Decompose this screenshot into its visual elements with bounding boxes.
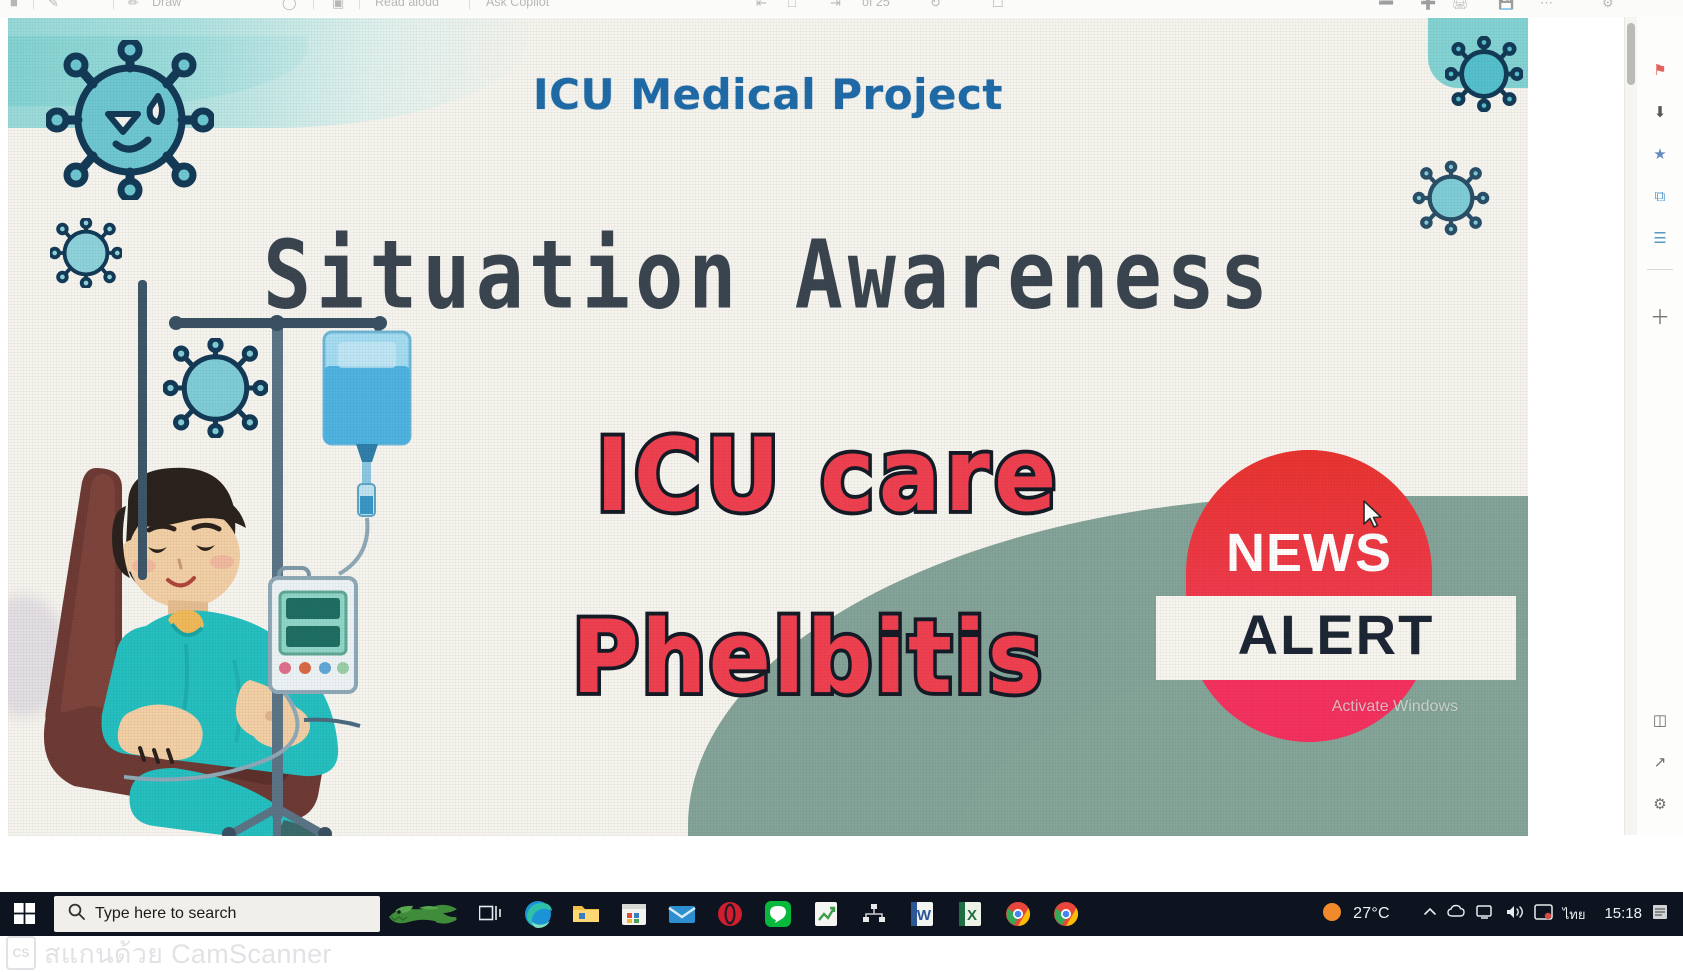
- next-page-icon[interactable]: ⇥: [830, 0, 841, 11]
- right-tool-rail: ⚑ ⬇ ★ ⧉ ☰ ＋ ◫ ↗ ⚙: [1636, 17, 1683, 835]
- line-icon[interactable]: [754, 892, 802, 936]
- app-toolbar: ■ | ✎ | ✏ Draw ◯ | ▣ | Read aloud | Ask …: [0, 0, 1683, 17]
- favorites-icon[interactable]: ★: [1645, 141, 1675, 167]
- split-screen-icon[interactable]: ◫: [1645, 707, 1675, 733]
- download-icon[interactable]: ⬇: [1645, 99, 1675, 125]
- rotate-icon[interactable]: ↻: [930, 0, 941, 11]
- text-icon[interactable]: ▣: [332, 0, 344, 11]
- task-view-button[interactable]: [466, 892, 514, 936]
- pen-icon[interactable]: ✎: [48, 0, 59, 11]
- svg-text:W: W: [917, 907, 932, 924]
- taskbar-search-box[interactable]: Type here to search: [54, 896, 380, 932]
- search-icon: [68, 903, 85, 925]
- fit-page-icon[interactable]: ☐: [992, 0, 1004, 11]
- file-explorer-icon[interactable]: [562, 892, 610, 936]
- slide-header-title: ICU Medical Project: [8, 70, 1528, 119]
- share-icon[interactable]: ↗: [1645, 749, 1675, 775]
- taskbar-clock[interactable]: 15:18: [1604, 906, 1642, 922]
- scrollbar-thumb[interactable]: [1627, 23, 1635, 85]
- chrome-icon-2[interactable]: [1042, 892, 1090, 936]
- network-icon[interactable]: [1476, 904, 1496, 924]
- mouse-cursor: [1362, 500, 1384, 535]
- vertical-scrollbar[interactable]: [1624, 17, 1637, 835]
- network-app-icon[interactable]: [850, 892, 898, 936]
- erase-icon[interactable]: ◯: [282, 0, 297, 11]
- edge-icon[interactable]: [514, 892, 562, 936]
- onedrive-icon[interactable]: [1447, 904, 1467, 924]
- read-aloud-label[interactable]: Read aloud: [375, 0, 439, 9]
- draw-tool-label[interactable]: Draw: [152, 0, 181, 9]
- bookmark-icon[interactable]: ⚑: [1645, 57, 1675, 83]
- weather-temperature[interactable]: 27°C: [1353, 905, 1390, 923]
- windows-activate-watermark: Activate Windows: [1332, 698, 1458, 716]
- volume-icon[interactable]: [1505, 904, 1525, 924]
- topic-line-2: Phelbitis: [498, 599, 1118, 717]
- show-desktop-icon[interactable]: [1651, 903, 1669, 925]
- windows-taskbar: Type here to search: [0, 892, 1683, 936]
- slide-heading: Situation Awareness: [8, 220, 1528, 330]
- virus-character-medium-icon: [163, 338, 268, 438]
- crocodile-sticker-icon: [380, 892, 466, 936]
- input-language-icon[interactable]: ไทย: [1563, 904, 1586, 925]
- start-button[interactable]: [0, 892, 50, 936]
- mail-icon[interactable]: [658, 892, 706, 936]
- zoom-out-icon[interactable]: ➖: [1378, 0, 1394, 11]
- opera-icon[interactable]: [706, 892, 754, 936]
- microsoft-store-icon[interactable]: [610, 892, 658, 936]
- system-tray: 27°C: [1320, 900, 1683, 928]
- weather-icon[interactable]: [1320, 900, 1344, 928]
- save-icon[interactable]: 💾: [1498, 0, 1514, 11]
- screen: ■ | ✎ | ✏ Draw ◯ | ▣ | Read aloud | Ask …: [0, 0, 1683, 972]
- collections-icon[interactable]: ⧉: [1645, 183, 1675, 209]
- print-icon[interactable]: 🖨: [1452, 0, 1469, 11]
- search-placeholder: Type here to search: [95, 905, 236, 923]
- settings-icon[interactable]: ⚙: [1645, 791, 1675, 817]
- page-box-icon[interactable]: □: [788, 0, 796, 10]
- virus-character-large-icon: [46, 40, 214, 200]
- highlighter-icon[interactable]: ✏: [128, 0, 139, 11]
- action-center-icon[interactable]: [1534, 904, 1554, 925]
- home-icon[interactable]: ■: [10, 0, 18, 10]
- camscanner-watermark: CS สแกนด้วย CamScanner: [6, 936, 332, 970]
- svg-text:X: X: [967, 907, 977, 924]
- chrome-icon[interactable]: [994, 892, 1042, 936]
- badge-alert-text: ALERT: [1156, 602, 1516, 667]
- show-hidden-icons[interactable]: [1422, 904, 1438, 924]
- first-page-icon[interactable]: ⇤: [756, 0, 767, 11]
- word-icon[interactable]: W: [898, 892, 946, 936]
- camscanner-text: สแกนด้วย CamScanner: [44, 932, 332, 972]
- more-options-icon[interactable]: ⋯: [1540, 0, 1553, 11]
- camscanner-logo-icon: CS: [6, 936, 36, 970]
- page-indicator: of 25: [862, 0, 890, 9]
- history-icon[interactable]: ☰: [1645, 225, 1675, 251]
- settings-icon[interactable]: ⚙: [1602, 0, 1614, 11]
- zoom-in-icon[interactable]: ➕: [1420, 0, 1436, 11]
- add-icon[interactable]: ＋: [1645, 302, 1675, 328]
- document-page: ICU Medical Project Situation Awareness …: [8, 18, 1528, 836]
- stocks-icon[interactable]: [802, 892, 850, 936]
- ask-copilot-label[interactable]: Ask Copilot: [486, 0, 549, 9]
- badge-news-text: NEWS: [1186, 522, 1432, 584]
- topic-line-1: ICU care: [498, 417, 1158, 535]
- excel-icon[interactable]: X: [946, 892, 994, 936]
